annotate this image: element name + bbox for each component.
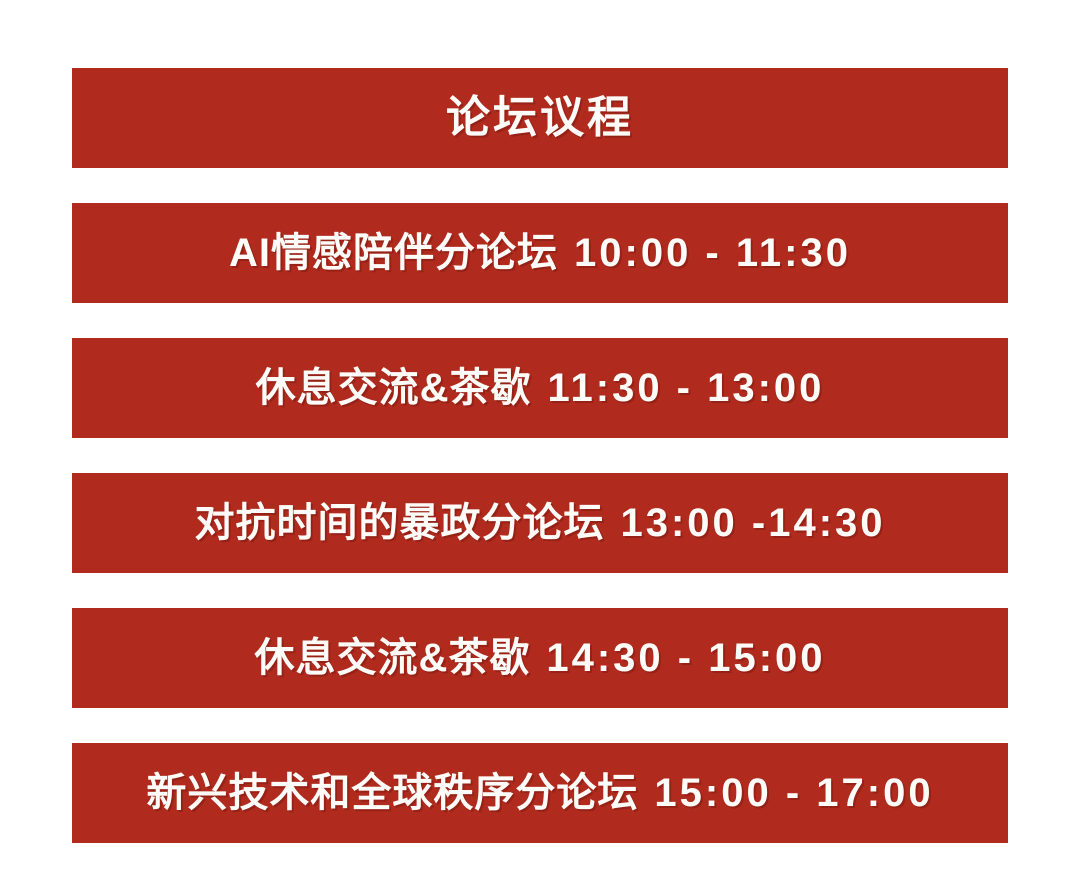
session-title-2: 休息交流&茶歇 <box>256 366 532 410</box>
session-title-5: 新兴技术和全球秩序分论坛 <box>146 771 638 815</box>
session-title-4: 休息交流&茶歇 <box>254 636 530 680</box>
session-line-4: 休息交流&茶歇14:30 - 15:00 <box>254 638 825 678</box>
session-time-3: 13:00 -14:30 <box>620 501 885 545</box>
session-title-3: 对抗时间的暴政分论坛 <box>194 501 604 545</box>
session-title-1: AI情感陪伴分论坛 <box>229 231 558 275</box>
session-time-5: 15:00 - 17:00 <box>654 771 933 815</box>
session-line-3: 对抗时间的暴政分论坛13:00 -14:30 <box>194 503 885 543</box>
session-line-2: 休息交流&茶歇11:30 - 13:00 <box>256 368 825 408</box>
agenda-session-row-5[interactable]: 新兴技术和全球秩序分论坛15:00 - 17:00 <box>72 743 1008 843</box>
page-title: 论坛议程 <box>446 96 634 140</box>
session-time-1: 10:00 - 11:30 <box>574 231 851 275</box>
session-time-4: 14:30 - 15:00 <box>546 636 825 680</box>
agenda-session-row-2[interactable]: 休息交流&茶歇11:30 - 13:00 <box>72 338 1008 438</box>
agenda-session-row-1[interactable]: AI情感陪伴分论坛10:00 - 11:30 <box>72 203 1008 303</box>
agenda-session-row-3[interactable]: 对抗时间的暴政分论坛13:00 -14:30 <box>72 473 1008 573</box>
agenda-header-bar: 论坛议程 <box>72 68 1008 168</box>
session-line-5: 新兴技术和全球秩序分论坛15:00 - 17:00 <box>146 773 933 813</box>
agenda-session-row-4[interactable]: 休息交流&茶歇14:30 - 15:00 <box>72 608 1008 708</box>
session-line-1: AI情感陪伴分论坛10:00 - 11:30 <box>229 233 851 273</box>
agenda-board: 论坛议程 AI情感陪伴分论坛10:00 - 11:30 休息交流&茶歇11:30… <box>0 0 1080 892</box>
session-time-2: 11:30 - 13:00 <box>547 366 824 410</box>
